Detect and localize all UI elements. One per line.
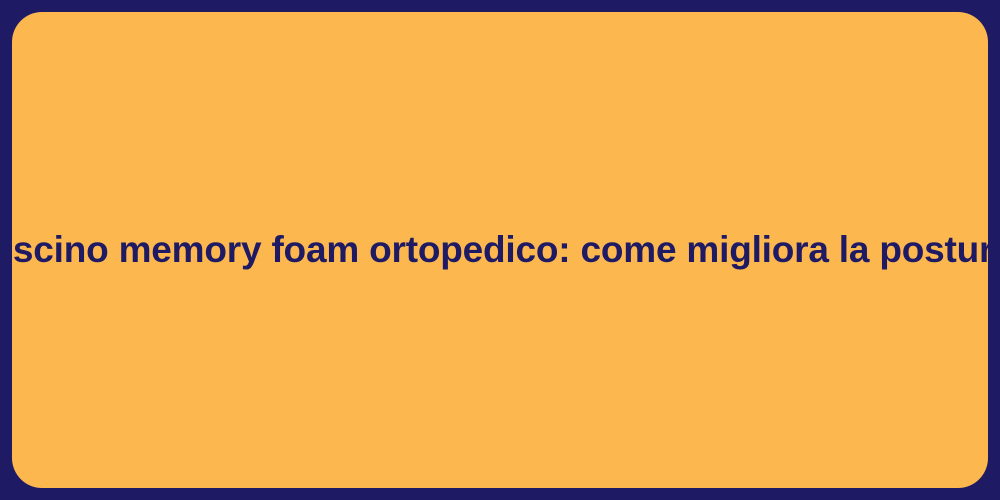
headline-card: Cuscino memory foam ortopedico: come mig… xyxy=(12,12,988,488)
page-canvas: Cuscino memory foam ortopedico: come mig… xyxy=(0,0,1000,500)
page-title: Cuscino memory foam ortopedico: come mig… xyxy=(0,229,1000,272)
